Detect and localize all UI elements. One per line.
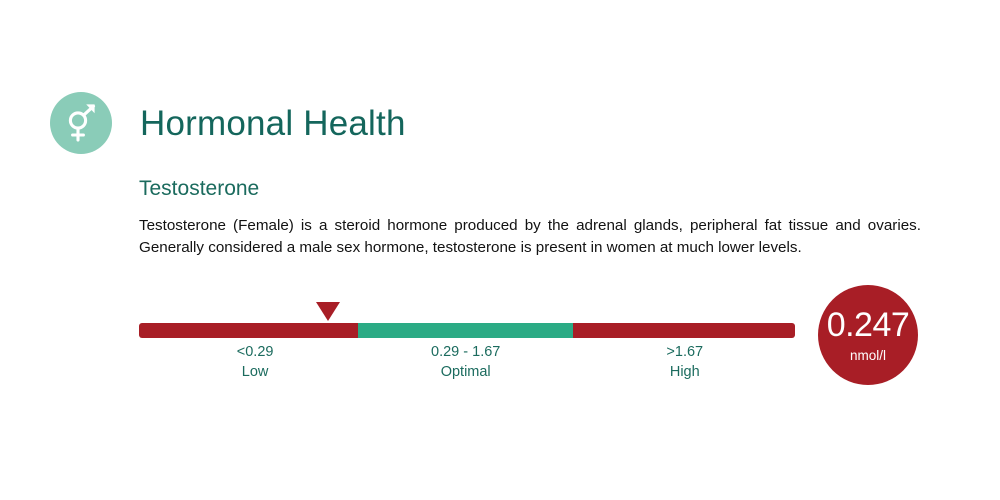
range-label-value: <0.29	[237, 343, 274, 363]
gender-combined-icon	[50, 92, 112, 154]
result-value: 0.247	[827, 308, 910, 342]
biomarker-block: Testosterone Testosterone (Female) is a …	[139, 176, 929, 258]
biomarker-description: Testosterone (Female) is a steroid hormo…	[139, 215, 921, 258]
range-segment-optimal	[358, 323, 573, 338]
range-bar-labels: <0.29Low0.29 - 1.67Optimal>1.67High	[139, 343, 795, 389]
range-label-value: 0.29 - 1.67	[431, 343, 500, 363]
range-label-low: <0.29Low	[237, 343, 274, 382]
range-label-high: >1.67High	[666, 343, 703, 382]
result-marker-triangle-icon	[316, 302, 340, 321]
page-title: Hormonal Health	[140, 106, 406, 141]
range-label-zone: Optimal	[431, 363, 500, 383]
section-header: Hormonal Health	[50, 92, 406, 154]
range-segment-low	[139, 323, 358, 338]
range-bar-area: <0.29Low0.29 - 1.67Optimal>1.67High	[139, 285, 795, 385]
result-value-badge: 0.247 nmol/l	[818, 285, 918, 385]
result-unit: nmol/l	[850, 349, 886, 363]
range-label-zone: High	[666, 363, 703, 383]
reference-range-bar	[139, 323, 795, 338]
range-row: <0.29Low0.29 - 1.67Optimal>1.67High 0.24…	[139, 285, 929, 395]
range-label-value: >1.67	[666, 343, 703, 363]
range-segment-high	[573, 323, 795, 338]
hormonal-health-report-card: Hormonal Health Testosterone Testosteron…	[0, 0, 1000, 500]
range-label-optimal: 0.29 - 1.67Optimal	[431, 343, 500, 382]
biomarker-name: Testosterone	[139, 176, 929, 201]
range-label-zone: Low	[237, 363, 274, 383]
